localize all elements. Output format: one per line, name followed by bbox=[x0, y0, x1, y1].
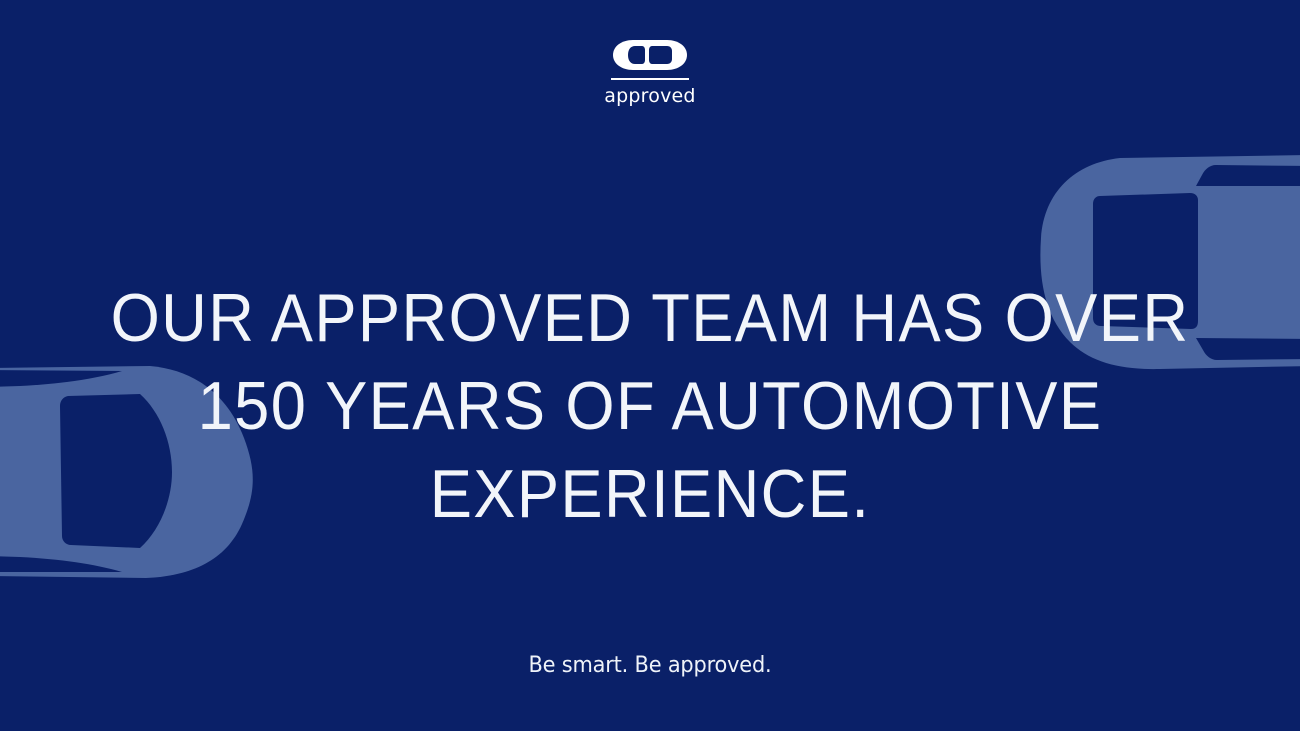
headline-line-1: OUR APPROVED TEAM HAS OVER bbox=[46, 274, 1255, 362]
headline-line-3: EXPERIENCE. bbox=[46, 450, 1255, 538]
brand-logo: approved bbox=[0, 38, 1300, 106]
headline: OUR APPROVED TEAM HAS OVER 150 YEARS OF … bbox=[46, 274, 1255, 538]
logo-wordmark: approved bbox=[604, 87, 695, 106]
car-top-view-icon bbox=[611, 38, 689, 72]
slide-canvas: approved OUR APPROVED TEAM HAS OVER 150 … bbox=[0, 0, 1300, 731]
logo-divider-rule bbox=[611, 78, 689, 80]
headline-line-2: 150 YEARS OF AUTOMOTIVE bbox=[46, 362, 1255, 450]
tagline: Be smart. Be approved. bbox=[33, 652, 1268, 680]
